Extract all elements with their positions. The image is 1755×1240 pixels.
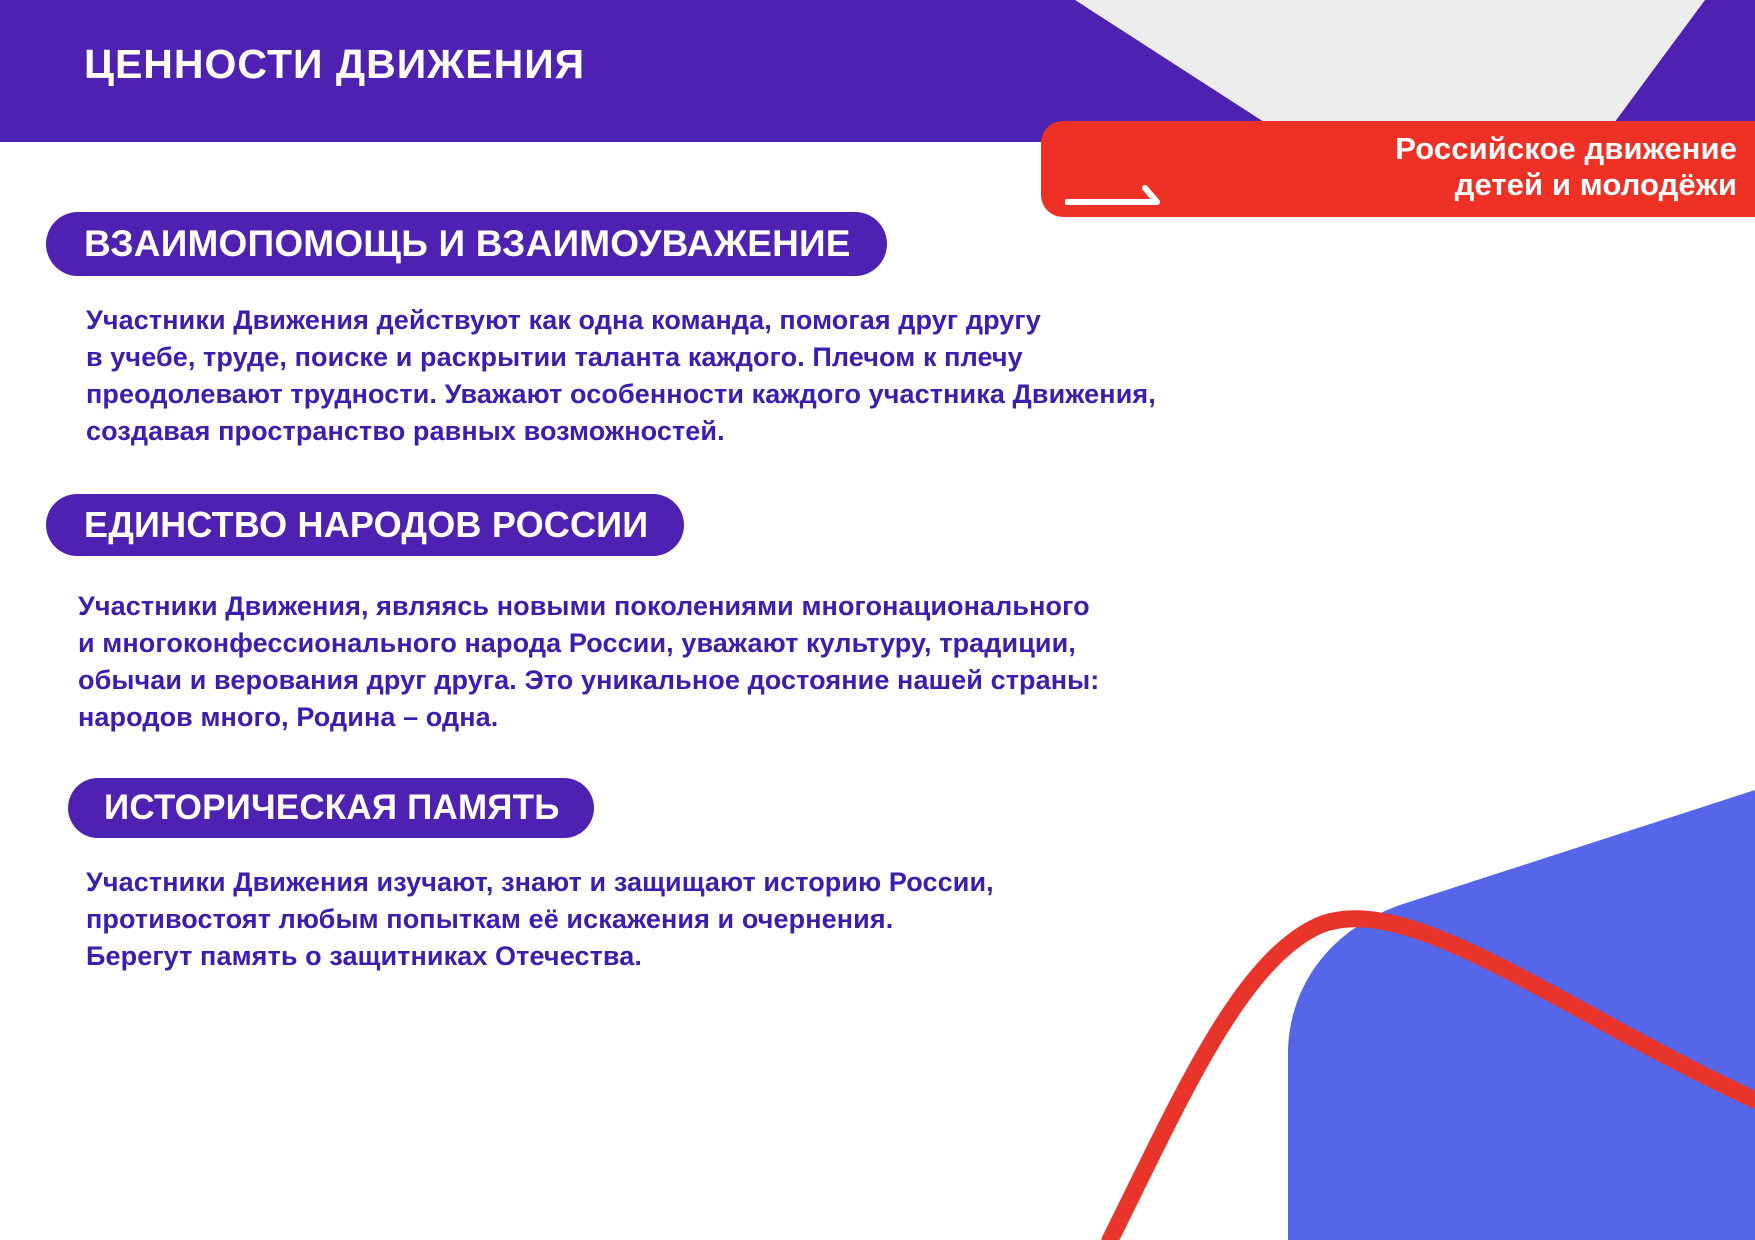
section-body-3: Участники Движения изучают, знают и защи… bbox=[86, 864, 994, 975]
header-gray-fill bbox=[980, 0, 1755, 140]
red-curve-line bbox=[1110, 919, 1755, 1240]
section-heading-pill-3: ИСТОРИЧЕСКАЯ ПАМЯТЬ bbox=[68, 778, 594, 838]
slide-canvas: ЦЕННОСТИ ДВИЖЕНИЯ Российское движение де… bbox=[0, 0, 1755, 1240]
section-heading-pill-1: ВЗАИМОПОМОЩЬ И ВЗАИМОУВАЖЕНИЕ bbox=[46, 212, 887, 276]
arrow-right-icon bbox=[1065, 183, 1183, 205]
section-heading-pill-2: ЕДИНСТВО НАРОДОВ РОССИИ bbox=[46, 494, 684, 556]
section-heading-label-2: ЕДИНСТВО НАРОДОВ РОССИИ bbox=[84, 504, 648, 546]
logo-badge: Российское движение детей и молодёжи bbox=[1041, 121, 1755, 217]
section-heading-label-3: ИСТОРИЧЕСКАЯ ПАМЯТЬ bbox=[104, 788, 560, 828]
page-title: ЦЕННОСТИ ДВИЖЕНИЯ bbox=[84, 44, 585, 85]
logo-text-block: Российское движение детей и молодёжи bbox=[1395, 131, 1737, 202]
bottom-blue-shape bbox=[1288, 790, 1755, 1240]
logo-line-2: детей и молодёжи bbox=[1395, 167, 1737, 203]
section-body-2: Участники Движения, являясь новыми покол… bbox=[78, 588, 1099, 736]
section-heading-label-1: ВЗАИМОПОМОЩЬ И ВЗАИМОУВАЖЕНИЕ bbox=[84, 223, 851, 265]
logo-line-1: Российское движение bbox=[1395, 131, 1737, 167]
section-body-1: Участники Движения действуют как одна ко… bbox=[86, 302, 1156, 450]
